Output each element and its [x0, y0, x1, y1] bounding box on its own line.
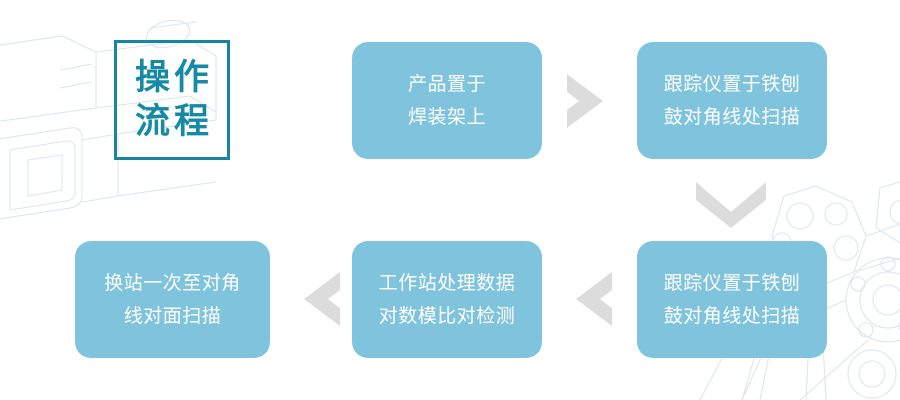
- flow-node-2[interactable]: 跟踪仪置于铁刨 鼓对角线处扫描: [637, 42, 827, 159]
- chevron-left-icon-2: [284, 268, 344, 330]
- flow-node-5-line-2: 线对面扫描: [124, 300, 222, 333]
- page-title-line-2: 流程: [131, 100, 213, 144]
- flow-node-1-line-1: 产品置于: [408, 68, 486, 101]
- flowchart-title-box: 操作 流程: [114, 40, 230, 160]
- chevron-left-icon-1: [556, 268, 616, 330]
- flow-node-2-line-2: 鼓对角线处扫描: [664, 101, 801, 134]
- flow-node-1-line-2: 焊装架上: [408, 101, 486, 134]
- flow-node-4-line-2: 对数模比对检测: [379, 300, 516, 333]
- flow-node-2-line-1: 跟踪仪置于铁刨: [664, 68, 801, 101]
- page-title-line-1: 操作: [131, 56, 213, 100]
- flow-node-5-line-1: 换站一次至对角: [104, 267, 241, 300]
- flow-node-5[interactable]: 换站一次至对角 线对面扫描: [75, 241, 270, 358]
- flow-node-3[interactable]: 跟踪仪置于铁刨 鼓对角线处扫描: [637, 241, 827, 358]
- chevron-right-icon: [563, 70, 623, 132]
- flow-node-4[interactable]: 工作站处理数据 对数模比对检测: [352, 241, 542, 358]
- flow-node-1[interactable]: 产品置于 焊装架上: [352, 42, 542, 159]
- flowchart-canvas: 操作 流程 产品置于 焊装架上 跟踪仪置于铁刨 鼓对角线处扫描 跟踪仪置于铁刨 …: [0, 0, 900, 400]
- flow-node-3-line-2: 鼓对角线处扫描: [664, 300, 801, 333]
- flow-node-4-line-1: 工作站处理数据: [379, 267, 516, 300]
- flow-node-3-line-1: 跟踪仪置于铁刨: [664, 267, 801, 300]
- chevron-down-icon: [692, 178, 770, 230]
